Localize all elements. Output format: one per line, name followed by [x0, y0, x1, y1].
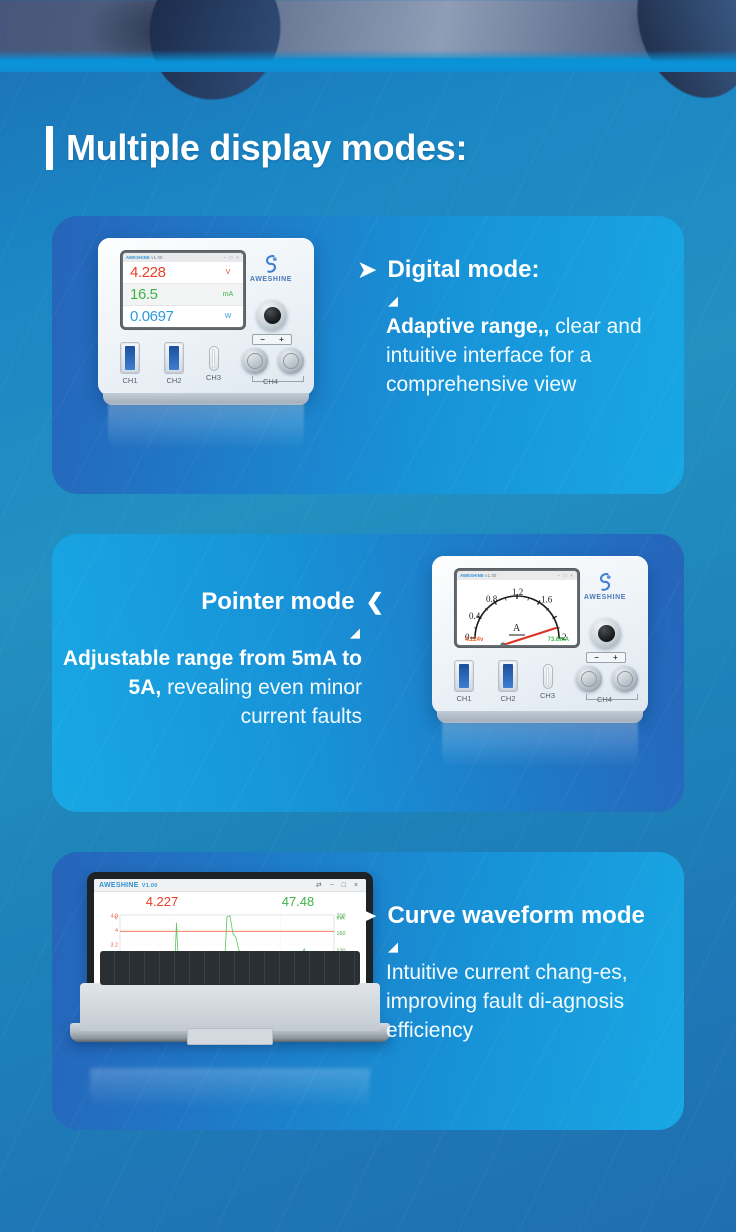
- svg-text:V: V: [114, 916, 118, 922]
- jack-negative[interactable]: [576, 666, 602, 692]
- port-row: CH1 CH2 CH3 − + CH4: [450, 654, 636, 706]
- brand-logo: AWESHINE: [242, 254, 300, 283]
- svg-text:A: A: [513, 623, 521, 634]
- port-ch3-label: CH3: [206, 373, 221, 382]
- body-curve-mode: Intuitive current chang-es, improving fa…: [386, 959, 682, 1045]
- current-value: 16.5: [130, 286, 218, 303]
- port-ch3[interactable]: CH3: [540, 660, 555, 700]
- laptop-deck: [80, 983, 380, 1031]
- heading-pointer-label: Pointer mode: [201, 588, 354, 616]
- port-ch4-label: CH4: [263, 377, 278, 386]
- body-digital-bold: Adaptive range,,: [386, 315, 549, 338]
- device-screen: AWESHINE v1.00 − □ × 4.228 V 16.5 mA 0.0…: [120, 250, 246, 330]
- banana-jack-icon: [278, 348, 304, 374]
- port-ch3[interactable]: CH3: [206, 342, 221, 382]
- heading-curve-label: Curve waveform mode: [387, 902, 644, 930]
- port-ch2[interactable]: CH2: [498, 660, 518, 703]
- jack-positive[interactable]: [278, 348, 304, 374]
- reading-current: 16.5 mA: [123, 284, 243, 306]
- device-screen: AWESHINE v1.00 − □ ×: [454, 568, 580, 648]
- jack-negative[interactable]: [242, 348, 268, 374]
- screen-titlebar: AWESHINE v1.00 − □ ×: [123, 253, 243, 262]
- svg-text:4: 4: [115, 928, 118, 934]
- voltage-value: 4.228: [130, 264, 218, 281]
- banana-jack-icon: [612, 666, 638, 692]
- text-curve-mode: ➤ Curve waveform mode ◢ Intuitive curren…: [358, 902, 682, 1045]
- port-ch3-label: CH3: [540, 691, 555, 700]
- heading-curve-mode: ➤ Curve waveform mode: [358, 902, 682, 930]
- screen-titlebar: AWESHINE v1.00 − □ ×: [457, 571, 577, 580]
- sub-arrow-icon: ◢: [388, 940, 682, 953]
- device-body: AWESHINE v1.00 − □ × 4.228 V 16.5 mA 0.0…: [98, 238, 314, 396]
- digital-readout: 4.228 V 16.5 mA 0.0697 W: [123, 262, 243, 327]
- svg-text:1.6: 1.6: [541, 595, 553, 605]
- port-ch1[interactable]: CH1: [120, 342, 140, 385]
- app-titlebar: AWESHINEV1.00 ⇄ − □ ×: [94, 879, 366, 892]
- sub-arrow-icon: ◢: [62, 626, 360, 639]
- jack-positive[interactable]: [612, 666, 638, 692]
- port-ch2-label: CH2: [498, 694, 518, 703]
- port-ch2[interactable]: CH2: [164, 342, 184, 385]
- port-ch2-label: CH2: [164, 376, 184, 385]
- usb-c-icon: [209, 346, 219, 371]
- arrow-right-icon: ➤: [358, 905, 376, 927]
- arrow-left-icon: ❮: [366, 591, 384, 613]
- body-pointer-mode: Adjustable range from 5mA to 5A, reveali…: [62, 645, 362, 731]
- usb-a-icon: [164, 342, 184, 374]
- polarity-minus: −: [260, 335, 265, 344]
- power-unit: W: [218, 313, 238, 320]
- chart-current-value: 47.48: [282, 894, 315, 909]
- heading-digital-mode: ➤ Digital mode:: [358, 256, 680, 284]
- gauge-dial-icon: 0 0.4 0.8 1.2 1.6 2 A: [457, 580, 577, 645]
- title-accent-bar: [46, 126, 53, 170]
- text-digital-mode: ➤ Digital mode: ◢ Adaptive range,, clear…: [358, 256, 680, 399]
- laptop-device: AWESHINEV1.00 ⇄ − □ × 4.227 47.48 00.81.…: [70, 872, 390, 1042]
- svg-text:3.2: 3.2: [111, 943, 119, 949]
- screen-app-title: AWESHINE v1.00: [460, 573, 497, 578]
- usb-a-icon: [454, 660, 474, 692]
- laptop-trackpad[interactable]: [187, 1028, 273, 1045]
- brand-logo: AWESHINE: [576, 572, 634, 601]
- gauge-current-reading: 73.6mA: [548, 637, 569, 643]
- screen-app-title: AWESHINE v1.00: [126, 255, 163, 260]
- screen-window-controls[interactable]: − □ ×: [558, 573, 574, 578]
- svg-text:0.4: 0.4: [469, 611, 481, 621]
- gauge-voltage-reading: 4.224v: [465, 637, 483, 643]
- chart-voltage-value: 4.227: [146, 894, 179, 909]
- polarity-label-box: − +: [252, 334, 292, 345]
- device-digital: AWESHINE v1.00 − □ × 4.228 V 16.5 mA 0.0…: [98, 238, 314, 396]
- app-version: V1.00: [142, 883, 158, 889]
- svg-text:1.2: 1.2: [512, 587, 523, 597]
- window-controls[interactable]: ⇄ − □ ×: [316, 881, 361, 889]
- device-pointer: AWESHINE v1.00 − □ ×: [432, 556, 648, 714]
- rotary-knob[interactable]: [257, 300, 287, 330]
- device-reflection: [108, 404, 304, 450]
- arrow-right-icon: ➤: [358, 259, 376, 281]
- banana-jack-icon: [242, 348, 268, 374]
- port-ch1[interactable]: CH1: [454, 660, 474, 703]
- body-digital-mode: Adaptive range,, clear and intuitive int…: [386, 313, 680, 399]
- laptop-reflection: [90, 1068, 370, 1108]
- port-ch1-label: CH1: [454, 694, 474, 703]
- readout-row: 4.227 47.48: [94, 892, 366, 911]
- power-value: 0.0697: [130, 308, 218, 325]
- rotary-knob[interactable]: [591, 618, 621, 648]
- app-title: AWESHINEV1.00: [99, 882, 158, 889]
- sub-arrow-icon: ◢: [388, 294, 680, 307]
- port-ch1-label: CH1: [120, 376, 140, 385]
- device-reflection: [442, 722, 638, 768]
- usb-a-icon: [120, 342, 140, 374]
- reading-voltage: 4.228 V: [123, 262, 243, 284]
- page-title-text: Multiple display modes:: [66, 127, 467, 169]
- screen-window-controls[interactable]: − □ ×: [224, 255, 240, 260]
- body-curve-rest: Intuitive current chang-es, improving fa…: [386, 961, 628, 1042]
- polarity-plus: +: [279, 335, 284, 344]
- heading-digital-label: Digital mode:: [387, 256, 539, 284]
- aweshine-swirl-icon: [261, 254, 281, 274]
- port-row: CH1 CH2 CH3 − + CH4: [116, 336, 302, 388]
- current-unit: mA: [218, 291, 238, 298]
- heading-pointer-mode: Pointer mode ❮: [62, 588, 384, 616]
- polarity-label-box: − +: [586, 652, 626, 663]
- usb-a-icon: [498, 660, 518, 692]
- banner-fade: [0, 50, 736, 72]
- aweshine-swirl-icon: [595, 572, 615, 592]
- svg-text:0.8: 0.8: [486, 594, 498, 604]
- svg-text:160: 160: [337, 931, 346, 937]
- analog-gauge: 0 0.4 0.8 1.2 1.6 2 A 4.224v 73.6mA: [457, 580, 577, 645]
- brand-name: AWESHINE: [242, 276, 300, 283]
- body-pointer-rest: revealing even minor current faults: [167, 676, 362, 728]
- banana-jack-icon: [576, 666, 602, 692]
- brand-name: AWESHINE: [576, 594, 634, 601]
- polarity-minus: −: [594, 653, 599, 662]
- device-body: AWESHINE v1.00 − □ ×: [432, 556, 648, 714]
- text-pointer-mode: Pointer mode ❮ ◢ Adjustable range from 5…: [62, 588, 384, 731]
- reading-power: 0.0697 W: [123, 306, 243, 327]
- laptop-base: [70, 1023, 390, 1042]
- voltage-unit: V: [218, 269, 238, 276]
- page-title: Multiple display modes:: [46, 126, 467, 170]
- port-ch4-label: CH4: [597, 695, 612, 704]
- laptop-keyboard[interactable]: [100, 951, 360, 985]
- svg-text:mA: mA: [337, 916, 345, 922]
- usb-c-icon: [543, 664, 553, 689]
- polarity-plus: +: [613, 653, 618, 662]
